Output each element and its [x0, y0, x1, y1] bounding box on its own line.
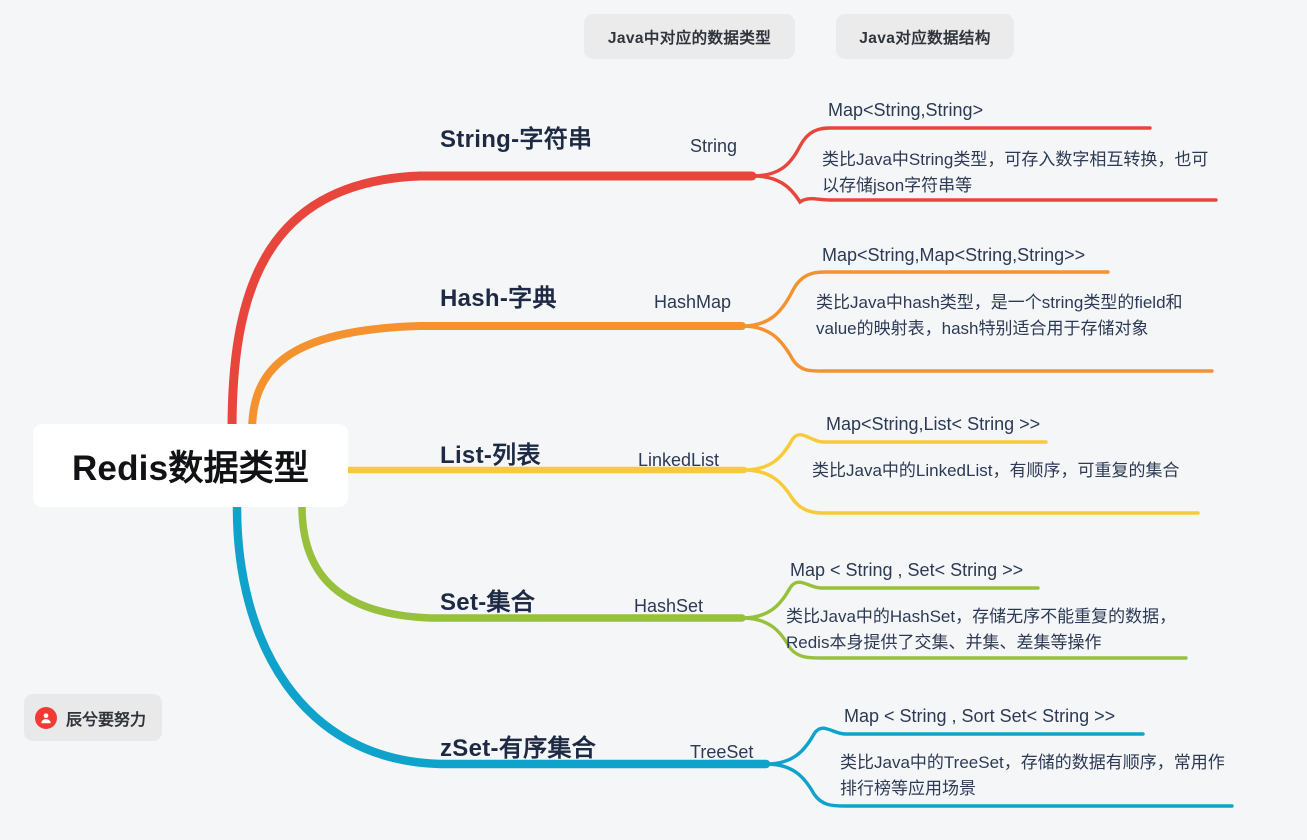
- branch-title-hash[interactable]: Hash-字典: [440, 278, 557, 313]
- mid-label-hash[interactable]: HashMap: [654, 292, 731, 313]
- branch-title-set[interactable]: Set-集合: [440, 582, 535, 617]
- mid-label-string[interactable]: String: [690, 136, 737, 157]
- leaf-type-string[interactable]: Map<String,String>: [828, 100, 983, 121]
- mindmap-canvas: Java中对应的数据类型 Java对应数据结构 Redis数据类型 String…: [0, 0, 1307, 840]
- mid-label-list[interactable]: LinkedList: [638, 450, 719, 471]
- branch-title-list[interactable]: List-列表: [440, 435, 541, 470]
- leaf-type-set[interactable]: Map < String , Set< String >>: [790, 560, 1023, 581]
- leaf-desc-zset[interactable]: 类比Java中的TreeSet，存储的数据有顺序，常用作排行榜等应用场景: [840, 750, 1230, 803]
- branch-title-zset[interactable]: zSet-有序集合: [440, 728, 596, 763]
- mid-label-set[interactable]: HashSet: [634, 596, 703, 617]
- leaf-desc-string[interactable]: 类比Java中String类型，可存入数字相互转换，也可以存储json字符串等: [822, 147, 1212, 200]
- trunk-hash: [252, 326, 742, 432]
- trunk-zset: [237, 508, 766, 764]
- leaf-desc-set[interactable]: 类比Java中的HashSet，存储无序不能重复的数据，Redis本身提供了交集…: [786, 604, 1190, 657]
- leaf-type-hash[interactable]: Map<String,Map<String,String>>: [822, 245, 1085, 266]
- watermark-badge[interactable]: 辰兮要努力: [24, 694, 162, 741]
- root-node[interactable]: Redis数据类型: [33, 424, 348, 507]
- branch-title-string[interactable]: String-字符串: [440, 119, 592, 154]
- mid-label-zset[interactable]: TreeSet: [690, 742, 753, 763]
- legend-chip-java-structure[interactable]: Java对应数据结构: [836, 14, 1014, 59]
- leaf-desc-hash[interactable]: 类比Java中hash类型，是一个string类型的field和value的映射…: [816, 290, 1216, 343]
- legend-chip-java-type[interactable]: Java中对应的数据类型: [584, 14, 795, 59]
- leaf-type-list[interactable]: Map<String,List< String >>: [826, 414, 1040, 435]
- legend-chip-java-type-label: Java中对应的数据类型: [608, 26, 771, 48]
- legend-chip-java-structure-label: Java对应数据结构: [859, 26, 990, 48]
- root-node-label: Redis数据类型: [72, 440, 309, 491]
- user-avatar-icon: [35, 707, 57, 729]
- watermark-label: 辰兮要努力: [66, 706, 146, 730]
- leaf-type-zset[interactable]: Map < String , Sort Set< String >>: [844, 706, 1115, 727]
- leaf-desc-list[interactable]: 类比Java中的LinkedList，有顺序，可重复的集合: [812, 458, 1200, 484]
